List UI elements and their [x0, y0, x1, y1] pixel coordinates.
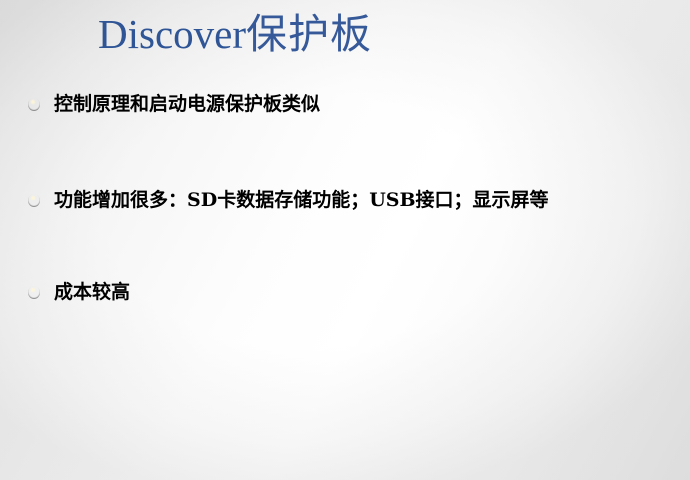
list-item-label: 成本较高 — [54, 281, 130, 303]
slide-title: Discover保护板 — [98, 6, 372, 62]
list-item: 功能增加很多：SD卡数据存储功能；USB接口；显示屏等 — [0, 186, 690, 216]
slide-title-cjk: 保护板 — [246, 10, 372, 58]
list-item: 成本较高 — [0, 278, 690, 308]
slide-bullet-list: 控制原理和启动电源保护板类似 功能增加很多：SD卡数据存储功能；USB接口；显示… — [0, 84, 690, 308]
list-item-label: 控制原理和启动电源保护板类似 — [54, 93, 320, 115]
sphere-bullet-icon — [28, 194, 40, 207]
sphere-bullet-icon — [28, 286, 40, 299]
slide-title-latin: Discover — [98, 11, 246, 57]
presentation-slide: Discover保护板 控制原理和启动电源保护板类似 功能增加很多：SD卡数据存… — [0, 0, 690, 480]
list-item-label: 功能增加很多：SD卡数据存储功能；USB接口；显示屏等 — [54, 189, 549, 211]
list-item: 控制原理和启动电源保护板类似 — [0, 90, 690, 120]
sphere-bullet-icon — [28, 98, 40, 111]
